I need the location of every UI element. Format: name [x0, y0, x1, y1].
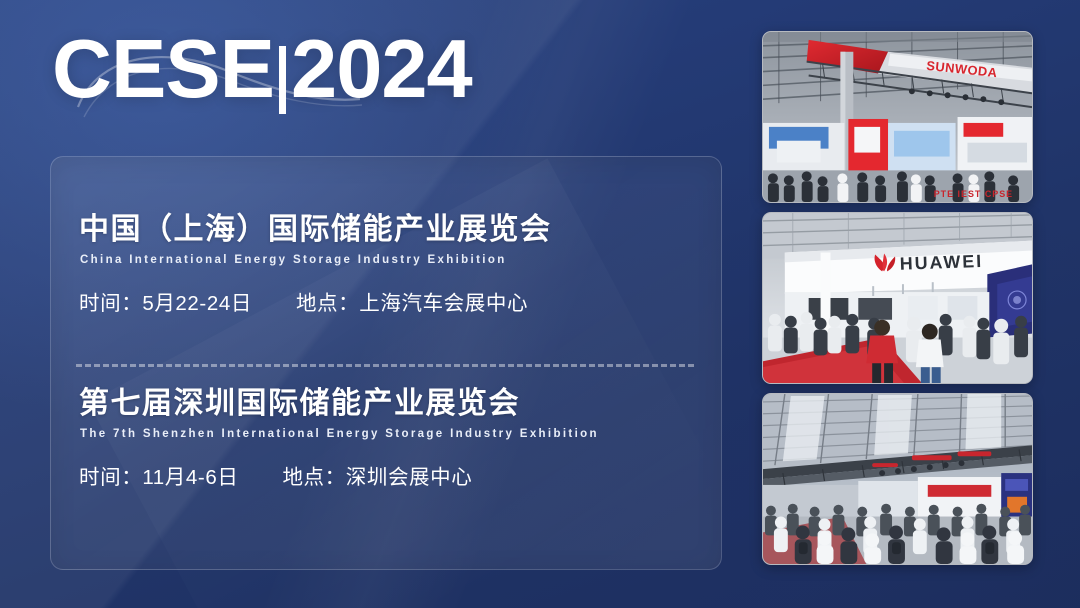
event-block-shenzhen: 第七届深圳国际储能产业展览会 The 7th Shenzhen Internat…: [51, 387, 721, 490]
event-title-en-shanghai: China International Energy Storage Indus…: [80, 254, 721, 266]
event-meta-shenzhen: 时间：11月4-6日地点：深圳会展中心: [79, 460, 721, 490]
event-title-cn-shenzhen: 第七届深圳国际储能产业展览会: [79, 387, 721, 421]
event-date-value-shanghai: 5月22-24日: [142, 292, 252, 315]
event-venue-label-shenzhen: 地点：: [282, 466, 345, 489]
event-info-card: 中国（上海）国际储能产业展览会 China International Ener…: [50, 156, 722, 570]
exhibition-hall-crowd-photo: [762, 393, 1033, 565]
cese-logo: CESE2024: [52, 27, 472, 110]
svg-text:PTE IEST CPSE: PTE IEST CPSE: [934, 189, 1013, 199]
event-title-en-shenzhen: The 7th Shenzhen International Energy St…: [80, 428, 721, 440]
event-venue-value-shenzhen: 深圳会展中心: [346, 466, 473, 489]
event-date-label-shanghai: 时间：: [79, 292, 142, 315]
event-date-value-shenzhen: 11月4-6日: [142, 466, 238, 489]
event-block-shanghai: 中国（上海）国际储能产业展览会 China International Ener…: [51, 213, 721, 316]
event-venue-label-shanghai: 地点：: [296, 292, 359, 315]
logo-separator-bar: [279, 46, 286, 114]
event-venue-value-shanghai: 上海汽车会展中心: [359, 292, 528, 315]
logo-year: 2024: [291, 22, 472, 115]
event-date-label-shenzhen: 时间：: [79, 466, 142, 489]
sunwoda-booth-photo: SUNWODA: [762, 31, 1033, 203]
huawei-booth-photo: HUAWEI: [762, 212, 1033, 384]
photo-column: SUNWODA: [762, 31, 1033, 565]
logo-prefix: CESE: [52, 22, 274, 115]
event-title-cn-shanghai: 中国（上海）国际储能产业展览会: [79, 213, 721, 247]
event-meta-shanghai: 时间：5月22-24日地点：上海汽车会展中心: [79, 286, 721, 316]
poster-canvas: CESE2024 中国（上海）国际储能产业展览会 China Internati…: [0, 0, 1080, 608]
svg-text:HUAWEI: HUAWEI: [899, 251, 983, 274]
card-dashed-divider: [76, 364, 694, 367]
